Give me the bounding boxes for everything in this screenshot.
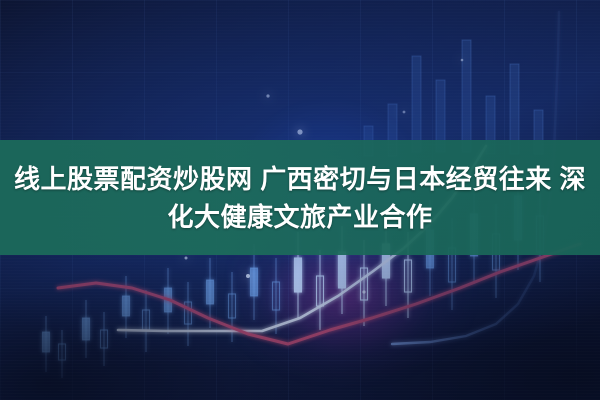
headline-line-1: 线上股票配资炒股网 广西密切与日本经贸往来 深 — [14, 160, 586, 198]
headline-line-2: 化大健康文旅产业合作 — [167, 198, 432, 236]
headline-band: 线上股票配资炒股网 广西密切与日本经贸往来 深 化大健康文旅产业合作 — [0, 140, 600, 255]
banner-image: 线上股票配资炒股网 广西密切与日本经贸往来 深 化大健康文旅产业合作 — [0, 0, 600, 400]
